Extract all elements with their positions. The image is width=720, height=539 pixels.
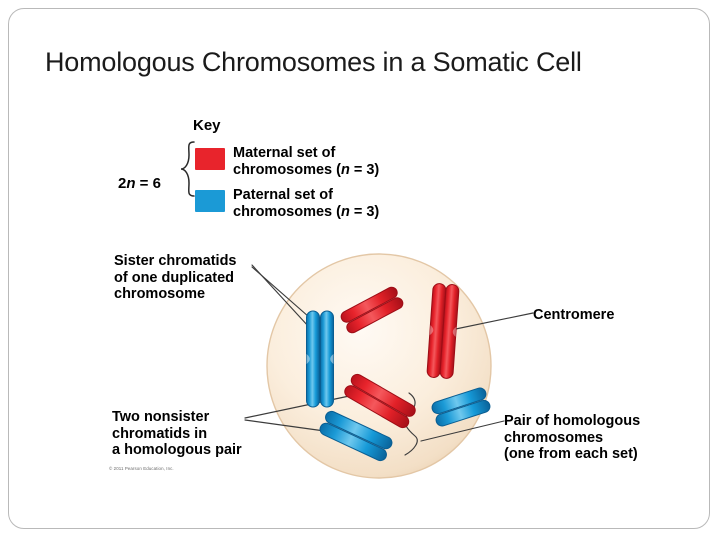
callout-centromere: Centromere: [533, 307, 614, 324]
sister-line2: of one duplicated: [114, 270, 237, 287]
nonsister-line2: chromatids in: [112, 426, 242, 443]
callout-nonsister-chromatids: Two nonsister chromatids in a homologous…: [112, 409, 242, 459]
slide-card: Homologous Chromosomes in a Somatic Cell…: [8, 8, 710, 529]
pair-line1: Pair of homologous: [504, 413, 640, 430]
key-paternal-line2: chromosomes (n = 3): [233, 204, 379, 221]
sister-line3: chromosome: [114, 286, 237, 303]
key-entry-maternal: Maternal set of chromosomes (n = 3): [233, 145, 379, 178]
nonsister-line3: a homologous pair: [112, 442, 242, 459]
chromosome-blue-duplicated-left: [307, 311, 334, 407]
pair-line3: (one from each set): [504, 446, 640, 463]
ploidy-label: 2n = 6: [118, 175, 161, 192]
pair-line2: chromosomes: [504, 430, 640, 447]
copyright-notice: © 2011 Pearson Education, Inc.: [109, 466, 174, 471]
nonsister-line1: Two nonsister: [112, 409, 242, 426]
key-maternal-line2: chromosomes (n = 3): [233, 162, 379, 179]
key-entry-paternal: Paternal set of chromosomes (n = 3): [233, 187, 379, 220]
page-title: Homologous Chromosomes in a Somatic Cell: [45, 47, 582, 78]
key-paternal-line1: Paternal set of: [233, 187, 379, 204]
callout-homologous-pair: Pair of homologous chromosomes (one from…: [504, 413, 640, 463]
centromere-line1: Centromere: [533, 307, 614, 324]
key-heading: Key: [193, 117, 221, 134]
key-swatch-maternal: [195, 148, 225, 170]
callout-sister-chromatids: Sister chromatids of one duplicated chro…: [114, 253, 237, 303]
key-maternal-line1: Maternal set of: [233, 145, 379, 162]
key-brace: [181, 142, 194, 196]
key-swatch-paternal: [195, 190, 225, 212]
sister-line1: Sister chromatids: [114, 253, 237, 270]
